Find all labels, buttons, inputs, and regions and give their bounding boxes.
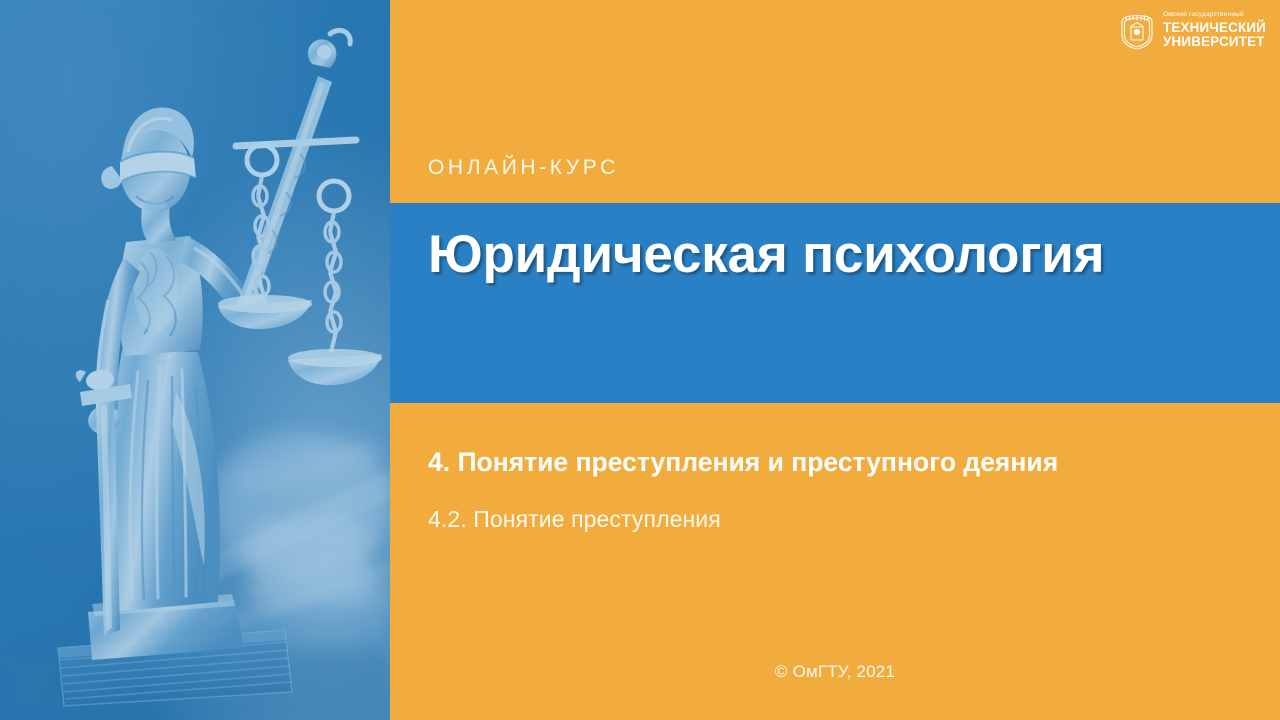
logo-line-tehnicheskiy: ТЕХНИЧЕСКИЙ [1163, 21, 1266, 35]
course-title-banner: Юридическая психология [390, 203, 1280, 403]
course-eyebrow-label: ОНЛАЙН-КУРС [428, 156, 619, 180]
section-title: 4. Понятие преступления и преступного де… [428, 447, 1058, 478]
university-logo: Омский государственный ТЕХНИЧЕСКИЙ УНИВЕ… [1118, 11, 1266, 51]
university-logo-text: Омский государственный ТЕХНИЧЕСКИЙ УНИВЕ… [1163, 12, 1266, 49]
footer-copyright: © ОмГТУ, 2021 [390, 662, 1280, 682]
university-crest-icon [1118, 11, 1156, 51]
subsection-title: 4.2. Понятие преступления [428, 506, 721, 533]
logo-line-universitet: УНИВЕРСИТЕТ [1163, 35, 1266, 49]
course-title-wrapper: Юридическая психология [428, 219, 1250, 291]
lady-justice-image-panel [0, 0, 390, 720]
page-title: Юридическая психология [428, 219, 1250, 291]
logo-line-small: Омский государственный [1163, 12, 1266, 18]
presentation-slide: Омский государственный ТЕХНИЧЕСКИЙ УНИВЕ… [0, 0, 1280, 720]
lady-justice-statue-photo [0, 0, 390, 720]
slide-content-area: Омский государственный ТЕХНИЧЕСКИЙ УНИВЕ… [390, 0, 1280, 720]
